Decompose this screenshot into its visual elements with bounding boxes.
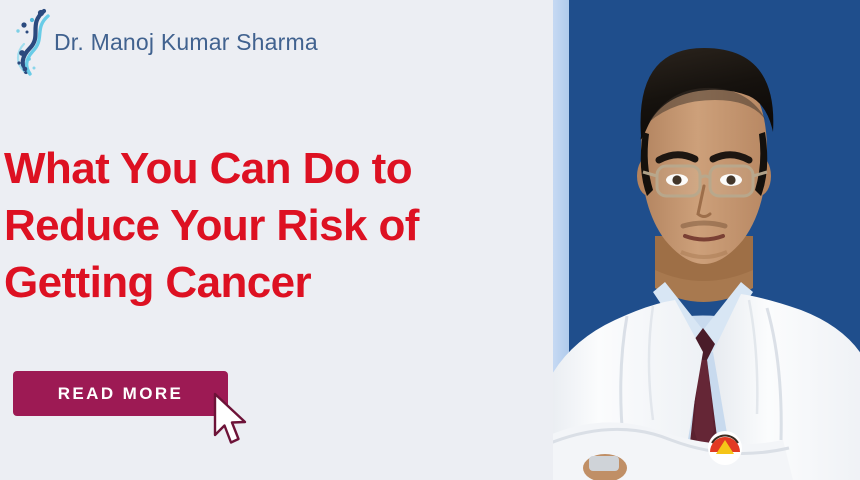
headline-line-3: Getting Cancer xyxy=(4,254,549,311)
banner-left-content: Dr. Manoj Kumar Sharma What You Can Do t… xyxy=(0,0,553,480)
brand-logo[interactable]: Dr. Manoj Kumar Sharma xyxy=(12,6,318,78)
chest-pocket-badge xyxy=(708,431,742,465)
read-more-button[interactable]: READ MORE xyxy=(13,371,228,416)
dna-helix-logo-icon xyxy=(12,6,58,78)
blog-banner: Dr. Manoj Kumar Sharma What You Can Do t… xyxy=(0,0,860,480)
doctor-photo-panel xyxy=(553,0,860,480)
headline-line-2: Reduce Your Risk of xyxy=(4,197,549,254)
doctor-portrait-image xyxy=(553,0,860,480)
cta-area: READ MORE xyxy=(13,371,228,416)
banner-headline: What You Can Do to Reduce Your Risk of G… xyxy=(4,140,549,311)
headline-line-1: What You Can Do to xyxy=(4,140,549,197)
brand-name-text: Dr. Manoj Kumar Sharma xyxy=(54,29,318,56)
